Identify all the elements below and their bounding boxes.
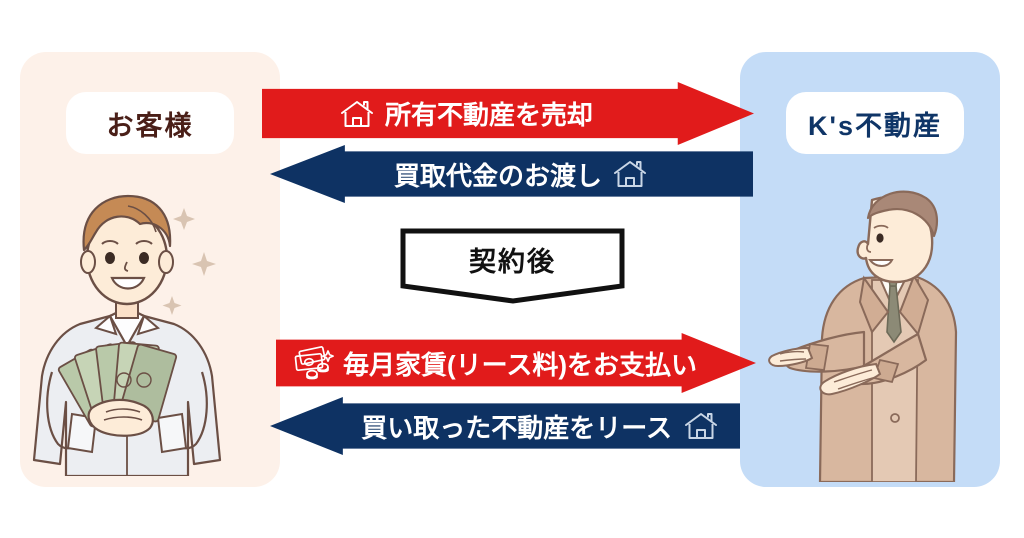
customer-illustration (20, 176, 235, 476)
left-party-label-text: お客様 (107, 104, 194, 143)
stage-badge-label: 契約後 (400, 240, 625, 279)
right-party-label: K's不動産 (786, 92, 964, 154)
flow-arrow-sell-property: 所有不動産を売却 (262, 82, 754, 145)
agent-illustration (768, 182, 994, 482)
flow-arrow-lease-back: 買い取った不動産をリース (270, 397, 740, 455)
left-party-label: お客様 (66, 92, 234, 154)
money-icon (294, 346, 334, 380)
house-icon (613, 159, 647, 189)
stage-badge: 契約後 (400, 228, 625, 304)
flow-label-sell-property: 所有不動産を売却 (385, 95, 593, 132)
flow-label-purchase-payment: 買取代金のお渡し (394, 156, 602, 193)
diagram-canvas: お客様 (0, 0, 1024, 538)
house-icon (684, 411, 718, 441)
right-party-label-text: K's不動産 (808, 104, 942, 143)
flow-arrow-monthly-rent: 毎月家賃(リース料)をお支払い (276, 333, 756, 393)
flow-label-lease-back: 買い取った不動産をリース (361, 408, 672, 445)
flow-arrow-purchase-payment: 買取代金のお渡し (270, 145, 753, 203)
house-icon (340, 99, 374, 129)
flow-label-monthly-rent: 毎月家賃(リース料)をお支払い (343, 345, 697, 382)
